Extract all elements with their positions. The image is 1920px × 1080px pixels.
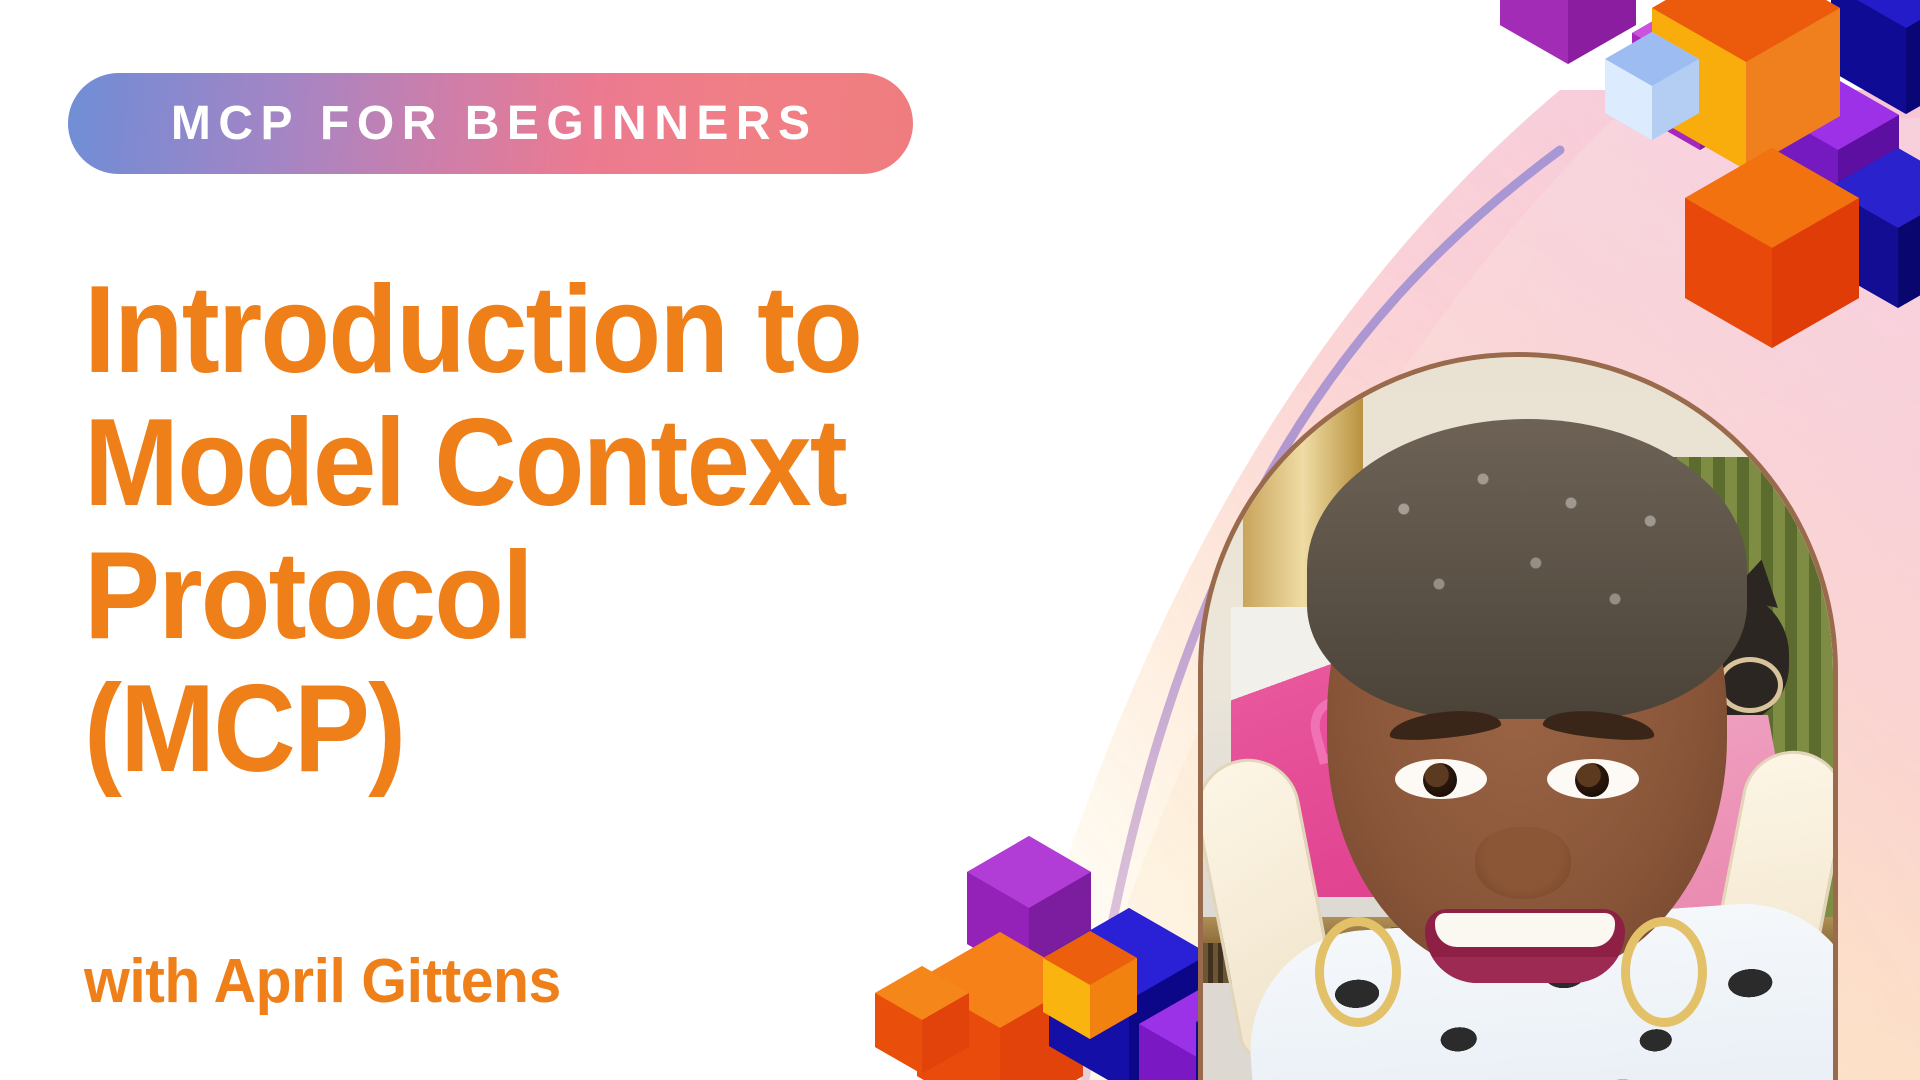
page-title-line-4: (MCP) [84,663,930,796]
course-level-badge-label: MCP FOR BEGINNERS [163,100,817,148]
hexagon-cube-icon [1828,148,1920,308]
hexagon-cube-icon [1632,0,1768,150]
hexagon-cube-icon [1500,0,1636,64]
photo-person-hair [1307,419,1747,719]
photo-person-eye-left [1395,759,1487,799]
presenter-photo-image [1203,357,1833,1080]
presenter-credit: with April Gittens [84,947,561,1017]
photo-person-eye-right [1547,759,1639,799]
hexagon-cube-icon [1685,148,1859,348]
hexagon-cube-icon [1777,80,1899,220]
page-title-line-1: Introduction to [84,264,930,397]
slide-root: MCP FOR BEGINNERS Introduction to Model … [0,0,1920,1080]
hex-cluster-top-right [1500,0,1920,348]
hexagon-cube-icon [1605,32,1699,140]
hexagon-cube-icon [1632,0,1768,18]
course-level-badge: MCP FOR BEGINNERS [68,73,913,174]
page-title-line-3: Protocol [84,530,930,663]
hexagon-cube-icon [1049,908,1209,1080]
photo-person-earring-right [1621,917,1707,1027]
photo-person-mouth [1425,909,1625,983]
page-title-line-2: Model Context [84,397,930,530]
photo-person-nose [1475,827,1571,899]
photo-person-teeth [1435,913,1615,947]
hexagon-cube-icon [1831,0,1920,114]
page-title: Introduction to Model Context Protocol (… [84,264,1004,796]
hexagon-cube-icon [1652,0,1840,170]
presenter-photo [1198,352,1838,1080]
photo-person-lower-lip [1425,957,1625,983]
content-column: MCP FOR BEGINNERS Introduction to Model … [0,0,1020,1080]
photo-person-earring-left [1315,917,1401,1027]
hexagon-cube-icon [1043,931,1137,1039]
